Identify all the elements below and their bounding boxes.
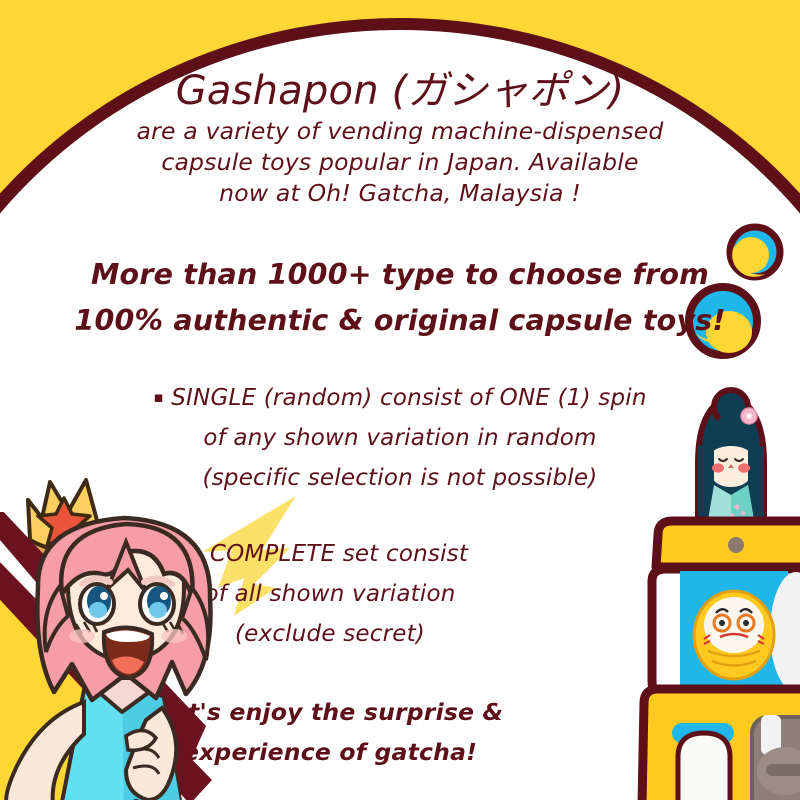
lead-line-2: capsule toys popular in Japan. Available xyxy=(0,147,800,178)
bullet-icon: ▪ xyxy=(153,388,163,406)
single-info-block: ▪ SINGLE (random) consist of ONE (1) spi… xyxy=(0,377,800,498)
single-line-2: of any shown variation in random xyxy=(0,418,800,458)
single-line-3: (specific selection is not possible) xyxy=(0,458,800,498)
highlight-paragraph: More than 1000+ type to choose from 100%… xyxy=(0,252,800,344)
poster-canvas: Gashapon (ガシャポン) are a variety of vendin… xyxy=(0,0,800,800)
highlight-line-2: 100% authentic & original capsule toys! xyxy=(0,298,800,344)
lead-paragraph: are a variety of vending machine-dispens… xyxy=(0,116,800,209)
daruma-capsule-toy xyxy=(694,591,774,679)
highlight-line-1: More than 1000+ type to choose from xyxy=(0,252,800,298)
page-title: Gashapon (ガシャポン) xyxy=(0,58,800,116)
single-line-1: ▪ SINGLE (random) consist of ONE (1) spi… xyxy=(0,377,800,418)
lead-line-3: now at Oh! Gatcha, Malaysia ! xyxy=(0,178,800,209)
lead-line-1: are a variety of vending machine-dispens… xyxy=(0,116,800,147)
single-line-1-text: SINGLE (random) consist of ONE (1) spin xyxy=(171,385,646,411)
excited-girl-character xyxy=(0,512,276,800)
